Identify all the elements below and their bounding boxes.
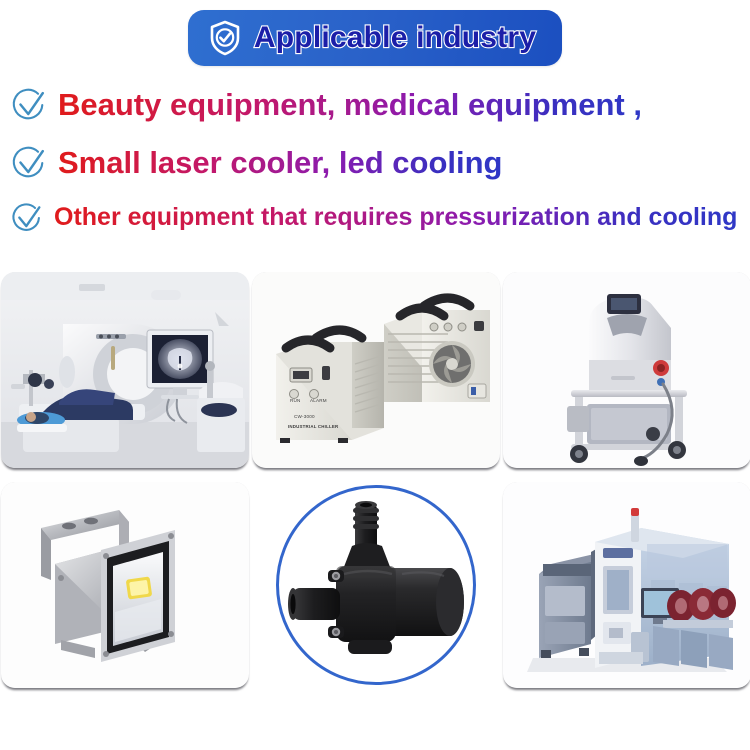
circle-check-icon bbox=[10, 201, 44, 235]
header-row: Applicable industry bbox=[0, 0, 750, 76]
chiller-type-label: INDUSTRIAL CHILLER bbox=[288, 424, 339, 429]
bullet-list: Beauty equipment, medical equipment , Sm… bbox=[0, 76, 750, 244]
svg-text:RUN: RUN bbox=[290, 398, 301, 403]
brushless-water-pump-photo bbox=[252, 482, 500, 688]
bullet-text-2: Small laser cooler, led cooling bbox=[58, 146, 503, 180]
bullet-item-3: Other equipment that requires pressuriza… bbox=[0, 192, 750, 244]
semiconductor-equipment-photo bbox=[503, 482, 750, 688]
bullet-text-3: Other equipment that requires pressuriza… bbox=[54, 204, 737, 232]
bullet-item-1: Beauty equipment, medical equipment , bbox=[0, 76, 750, 134]
page-title: Applicable industry bbox=[254, 21, 536, 55]
circle-check-icon bbox=[10, 86, 48, 124]
bullet-text-1: Beauty equipment, medical equipment , bbox=[58, 88, 642, 122]
led-flood-light-photo bbox=[1, 482, 249, 688]
industrial-chiller-photo: RUN ALARM CW-3000 INDUSTRIAL CHILLER bbox=[252, 272, 500, 468]
gallery-card-laser-beauty-machine[interactable] bbox=[503, 272, 750, 468]
ct-scanner-photo bbox=[1, 272, 249, 468]
laser-beauty-machine-photo bbox=[503, 272, 750, 468]
bullet-item-2: Small laser cooler, led cooling bbox=[0, 134, 750, 192]
gallery-card-semiconductor-equipment[interactable] bbox=[503, 482, 750, 688]
gallery-card-water-pump[interactable] bbox=[252, 482, 500, 688]
gallery-card-led-flood-light[interactable] bbox=[1, 482, 249, 688]
circle-check-icon bbox=[10, 144, 48, 182]
svg-text:ALARM: ALARM bbox=[310, 398, 327, 403]
gallery-card-ct-scanner[interactable] bbox=[1, 272, 249, 468]
gallery-card-industrial-chillers[interactable]: RUN ALARM CW-3000 INDUSTRIAL CHILLER bbox=[252, 272, 500, 468]
applicable-industry-banner: Applicable industry Beauty equipment, me… bbox=[0, 0, 750, 750]
shield-check-icon bbox=[208, 19, 242, 57]
gallery-grid: RUN ALARM CW-3000 INDUSTRIAL CHILLER bbox=[0, 272, 750, 750]
header-pill: Applicable industry bbox=[188, 10, 562, 66]
chiller-model-label: CW-3000 bbox=[294, 414, 315, 419]
